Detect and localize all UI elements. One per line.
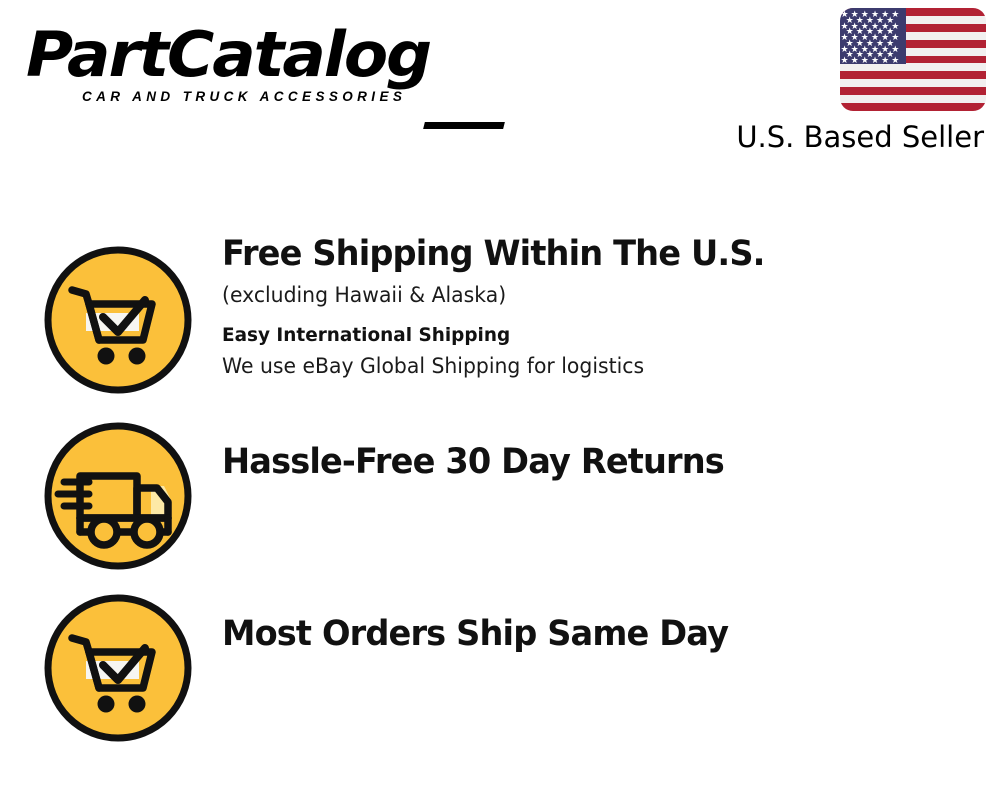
feature-title: Free Shipping Within The U.S.	[222, 232, 950, 276]
feature-title: Most Orders Ship Same Day	[222, 612, 950, 656]
flag-star: ★	[840, 56, 849, 65]
delivery-truck-icon	[42, 420, 194, 572]
flag-star: ★	[871, 56, 880, 65]
flag-stripe	[840, 71, 986, 79]
brand-tagline: CAR AND TRUCK ACCESSORIES	[82, 89, 496, 104]
seller-badge-label: U.S. Based Seller	[706, 120, 984, 154]
shopping-cart-check-icon	[42, 592, 194, 744]
flag-stripe	[840, 103, 986, 111]
feature-sub-title: Easy International Shipping	[222, 321, 957, 350]
brand-underline-dash	[423, 122, 505, 129]
feature-title: Hassle-Free 30 Day Returns	[222, 440, 950, 484]
seller-badge: ★★★★★★★★★★★★★★★★★★★★★★★★★★★★★★★★★★★★★★★★…	[706, 8, 986, 154]
feature-text-block: Hassle-Free 30 Day Returns	[222, 440, 980, 484]
flag-star: ★	[860, 56, 869, 65]
flag-stripe	[840, 87, 986, 95]
flag-star: ★	[881, 56, 890, 65]
feature-sub-note: We use eBay Global Shipping for logistic…	[222, 351, 957, 381]
us-flag-icon: ★★★★★★★★★★★★★★★★★★★★★★★★★★★★★★★★★★★★★★★★…	[840, 8, 986, 111]
feature-text-block: Most Orders Ship Same Day	[222, 612, 980, 656]
flag-star: ★	[850, 56, 859, 65]
feature-note: (excluding Hawaii & Alaska)	[222, 280, 957, 311]
shopping-cart-check-icon	[42, 244, 194, 396]
flag-star: ★	[891, 56, 900, 65]
feature-text-block: Free Shipping Within The U.S. (excluding…	[222, 232, 980, 381]
brand-logo[interactable]: PartCatalog CAR AND TRUCK ACCESSORIES	[26, 22, 496, 104]
page-header: PartCatalog CAR AND TRUCK ACCESSORIES ★★…	[0, 0, 1000, 170]
flag-stripe	[840, 79, 986, 87]
feature-row: Most Orders Ship Same Day	[0, 582, 1000, 754]
brand-wordmark: PartCatalog	[26, 22, 515, 88]
flag-stripe	[840, 95, 986, 103]
feature-row: Free Shipping Within The U.S. (excluding…	[0, 232, 1000, 410]
feature-row: Hassle-Free 30 Day Returns	[0, 410, 1000, 582]
